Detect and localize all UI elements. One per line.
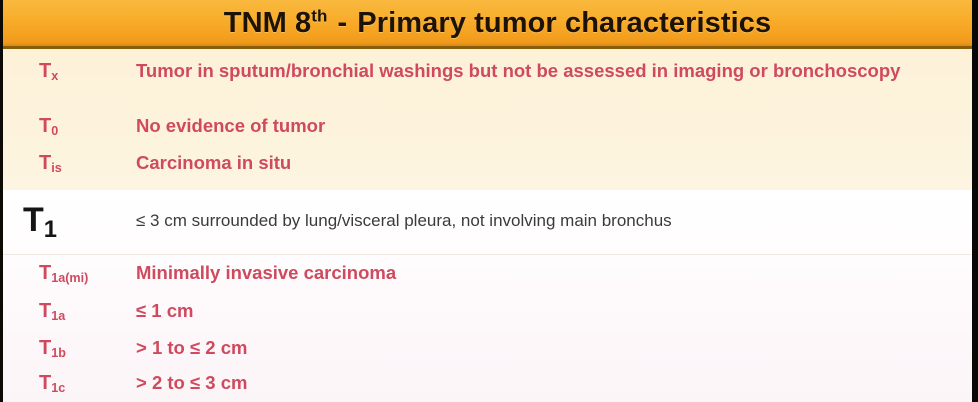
code-main: T [39, 115, 51, 137]
code-subscript: 1a(mi) [51, 271, 88, 285]
code-main: T [39, 337, 51, 359]
title-main-text: TNM 8 [224, 7, 312, 39]
code-main: T [39, 60, 51, 82]
page-title: TNM 8th-Primary tumor characteristics [204, 7, 771, 40]
table-row-tx: Tx Tumor in sputum/bronchial washings bu… [3, 60, 972, 83]
code-main: T [39, 262, 51, 284]
code-main: T [23, 201, 44, 239]
code-subscript: 1c [51, 381, 65, 395]
table-row-t1a: T1a ≤ 1 cm [3, 300, 972, 323]
title-rest-text: Primary tumor characteristics [357, 7, 771, 39]
table-row-t1a-mi: T1a(mi) Minimally invasive carcinoma [3, 262, 972, 285]
table-row-t1: T1 ≤ 3 cm surrounded by lung/visceral pl… [3, 203, 972, 241]
row-description-t1: ≤ 3 cm surrounded by lung/visceral pleur… [136, 203, 972, 231]
code-subscript: is [51, 161, 62, 175]
row-code-t1: T1 [3, 203, 136, 241]
tnm-staging-table-screenshot: TNM 8th-Primary tumor characteristics Tx… [0, 0, 978, 402]
table-header-band: TNM 8th-Primary tumor characteristics [3, 0, 972, 49]
code-main: T [39, 372, 51, 394]
row-divider [3, 254, 972, 255]
row-code-t1a: T1a [3, 300, 136, 323]
row-code-t1b: T1b [3, 337, 136, 360]
row-description-tis: Carcinoma in situ [136, 152, 972, 174]
row-description-t1c: > 2 to ≤ 3 cm [136, 372, 972, 394]
row-description-t0: No evidence of tumor [136, 115, 972, 137]
table-row-tis: Tis Carcinoma in situ [3, 152, 972, 175]
table-row-t0: T0 No evidence of tumor [3, 115, 972, 138]
code-subscript: 0 [51, 124, 58, 138]
code-subscript: x [51, 69, 58, 83]
title-superscript: th [311, 6, 327, 25]
code-subscript: 1 [44, 216, 57, 243]
code-subscript: 1a [51, 309, 65, 323]
table-row-t1b: T1b > 1 to ≤ 2 cm [3, 337, 972, 360]
title-dash: - [328, 7, 358, 39]
row-description-t1a: ≤ 1 cm [136, 300, 972, 322]
row-code-tx: Tx [3, 60, 136, 83]
row-description-t1a-mi: Minimally invasive carcinoma [136, 262, 972, 284]
row-code-t1c: T1c [3, 372, 136, 395]
code-main: T [39, 300, 51, 322]
row-description-t1b: > 1 to ≤ 2 cm [136, 337, 972, 359]
code-main: T [39, 152, 51, 174]
row-code-t1a-mi: T1a(mi) [3, 262, 136, 285]
code-subscript: 1b [51, 346, 66, 360]
row-code-t0: T0 [3, 115, 136, 138]
table-row-t1c: T1c > 2 to ≤ 3 cm [3, 372, 972, 395]
row-code-tis: Tis [3, 152, 136, 175]
row-description-tx: Tumor in sputum/bronchial washings but n… [136, 60, 972, 82]
